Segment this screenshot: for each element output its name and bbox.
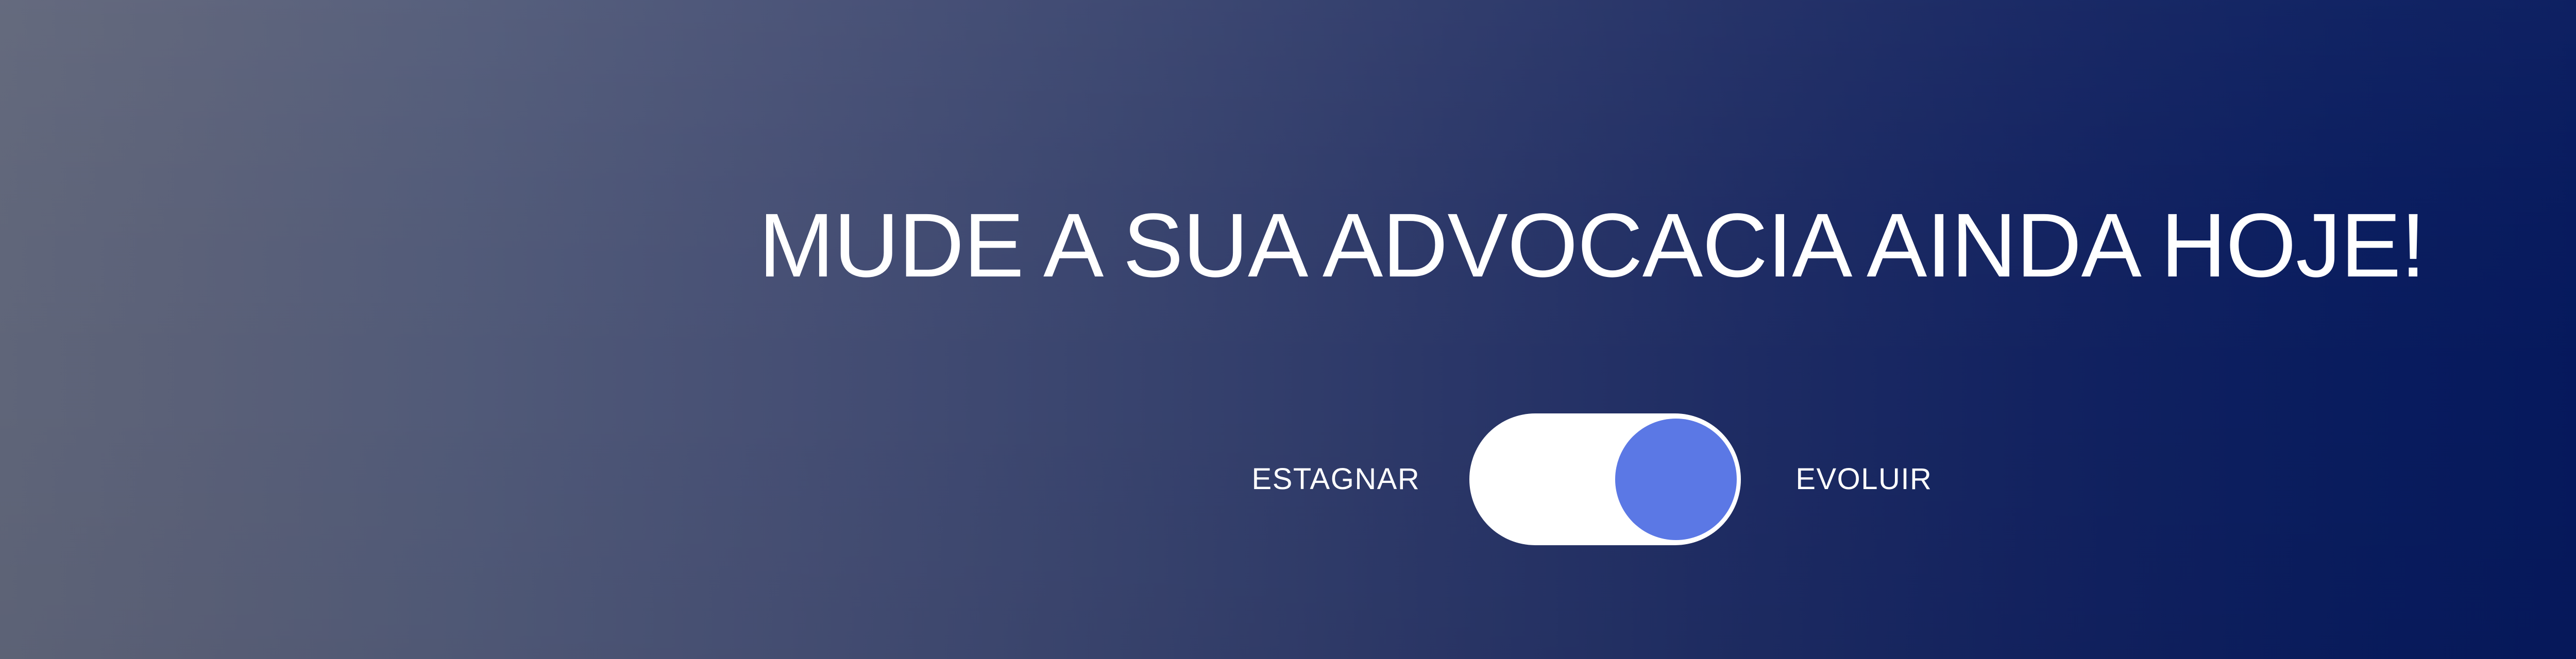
evolution-toggle-switch[interactable] [1469,413,1741,545]
hero-banner: MUDE A SUA ADVOCACIA AINDA HOJE! ESTAGNA… [0,0,2576,659]
hero-content: MUDE A SUA ADVOCACIA AINDA HOJE! ESTAGNA… [0,0,2576,659]
toggle-control-group: ESTAGNAR EVOLUIR [0,413,2576,545]
toggle-label-estagnar: ESTAGNAR [1252,464,1420,494]
page-title: MUDE A SUA ADVOCACIA AINDA HOJE! [0,200,2576,292]
toggle-knob[interactable] [1615,419,1737,540]
toggle-label-evoluir: EVOLUIR [1795,464,1932,494]
